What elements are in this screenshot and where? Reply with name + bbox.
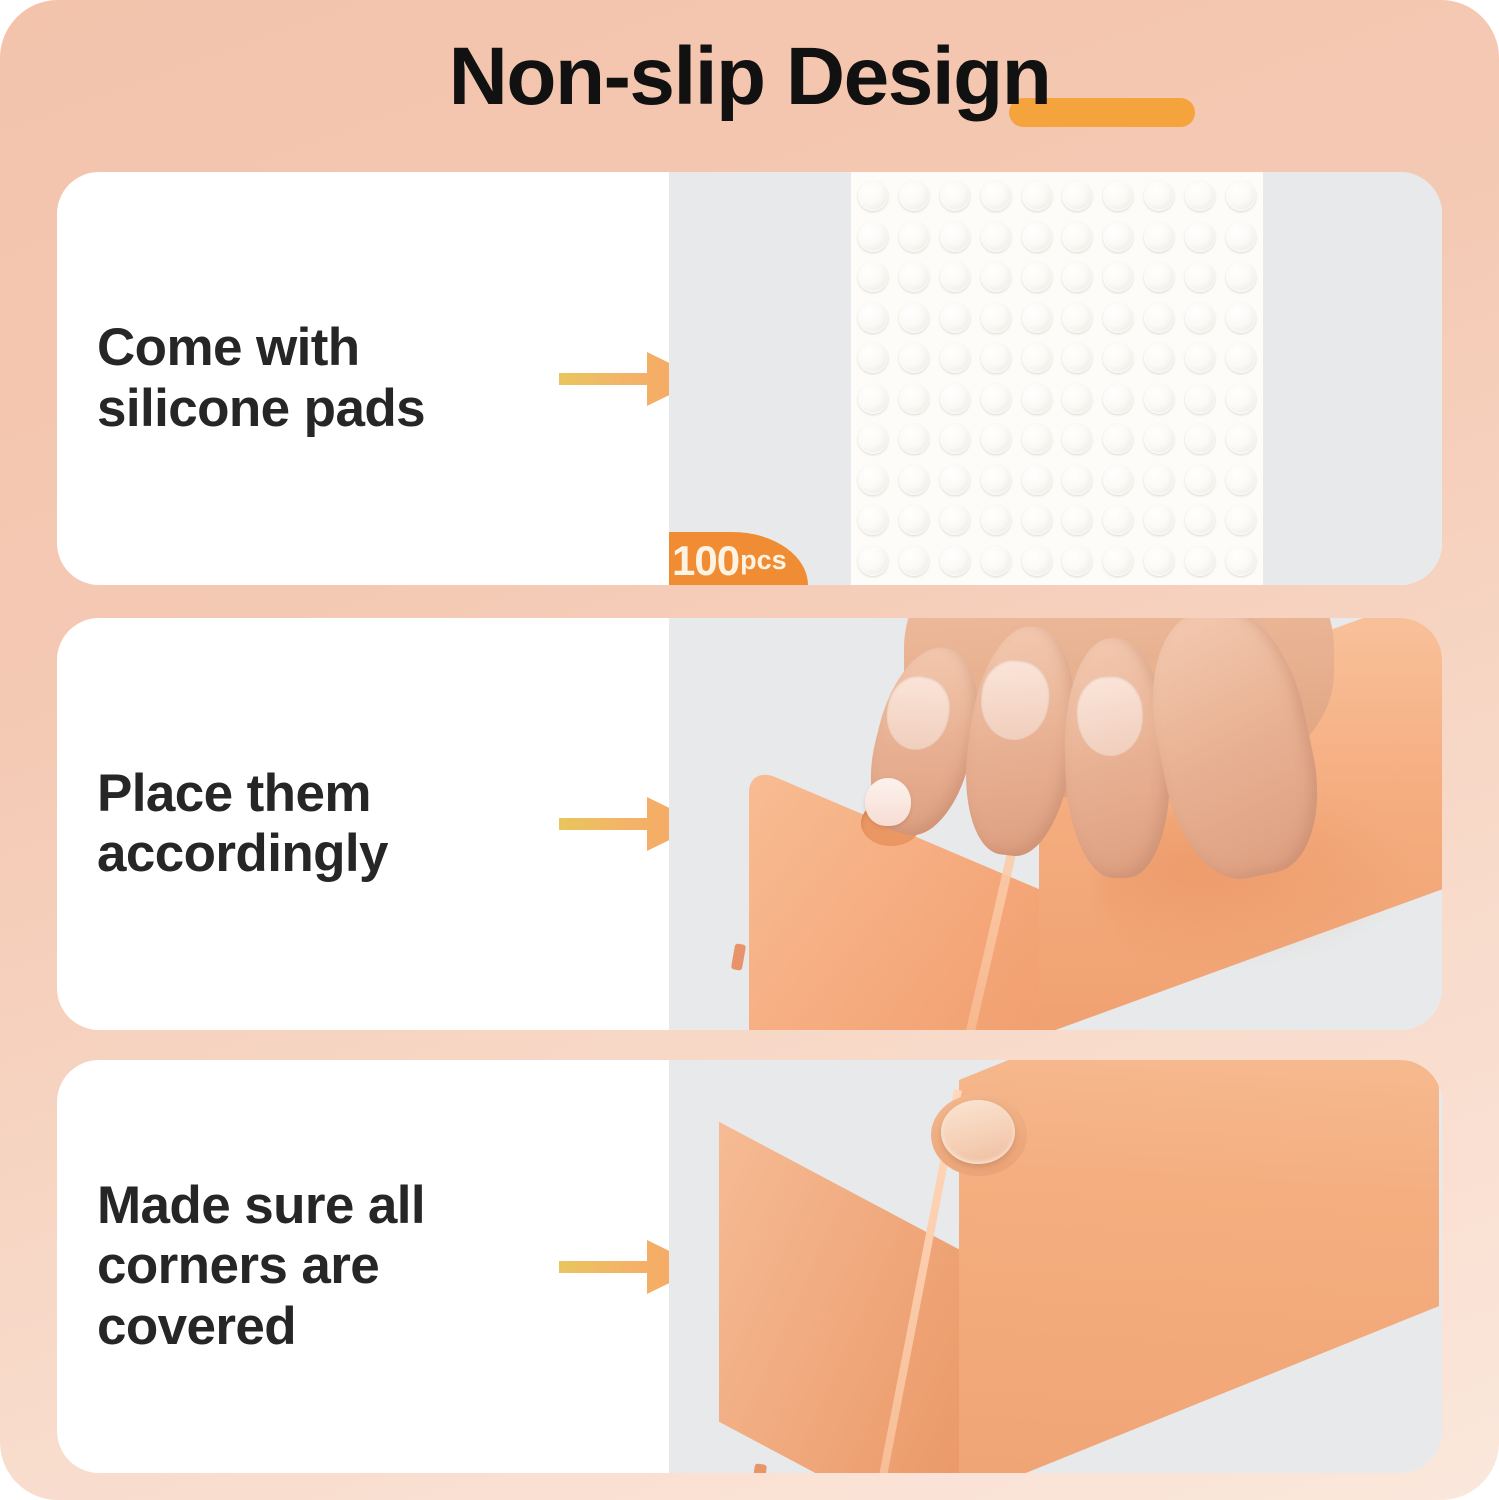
badge-unit: pcs	[740, 545, 787, 576]
silicone-pad-dot	[1185, 343, 1215, 373]
silicone-pad-dot	[1144, 222, 1174, 252]
silicone-pad-dot	[981, 303, 1011, 333]
silicone-pad-dot	[940, 303, 970, 333]
infographic-page: Non-slip Design Come with silicone pads	[0, 0, 1499, 1500]
card-media-silicone-pad-sheet: 100pcs	[669, 172, 1442, 585]
card-heading: Place them accordingly	[97, 764, 388, 885]
silicone-pad-dot	[1022, 546, 1052, 576]
silicone-pad-dot	[1062, 465, 1092, 495]
silicone-pad-dot	[981, 262, 1011, 292]
silicone-pad-dot	[1103, 303, 1133, 333]
silicone-pad-dot	[1185, 465, 1215, 495]
silicone-pad-dot	[1022, 465, 1052, 495]
silicone-pad-dot	[1062, 303, 1092, 333]
silicone-pad-dot	[1144, 262, 1174, 292]
silicone-pad-dot	[899, 465, 929, 495]
card-text-area: Place them accordingly	[57, 618, 669, 1030]
silicone-pad-dot	[899, 424, 929, 454]
hand-placing-pad-photo	[669, 618, 1442, 1030]
silicone-pad-dot	[1226, 181, 1256, 211]
silicone-pad-dot	[858, 546, 888, 576]
silicone-pad-dot	[940, 343, 970, 373]
silicone-pad-dot	[899, 303, 929, 333]
badge-count: 100	[672, 537, 739, 585]
silicone-pad-dot	[1185, 262, 1215, 292]
silicone-pad-dot	[1062, 262, 1092, 292]
silicone-pad-dot	[1062, 384, 1092, 414]
silicone-pad-dot	[1144, 343, 1174, 373]
card-heading: Made sure all corners are covered	[97, 1176, 425, 1357]
silicone-pad-dot	[858, 505, 888, 535]
silicone-pad-dot	[1226, 384, 1256, 414]
silicone-pad-dot	[1185, 384, 1215, 414]
card-text-area: Come with silicone pads	[57, 172, 669, 585]
silicone-pad-dot	[981, 465, 1011, 495]
card-text-area: Made sure all corners are covered	[57, 1060, 669, 1473]
silicone-pad-dot	[1144, 505, 1174, 535]
silicone-pad-dot	[940, 222, 970, 252]
silicone-pad-dot	[899, 181, 929, 211]
silicone-pad-dot	[981, 222, 1011, 252]
silicone-pad-dot	[981, 384, 1011, 414]
silicone-pad-dot	[1062, 222, 1092, 252]
feature-card-place-pads: Place them accordingly	[57, 618, 1442, 1030]
silicone-pad-dot	[1226, 505, 1256, 535]
silicone-pad-dot	[1185, 505, 1215, 535]
silicone-pad-dot	[1022, 424, 1052, 454]
silicone-pad-dot	[981, 546, 1011, 576]
silicone-pad-dot	[1062, 546, 1092, 576]
silicone-pad-dot	[1144, 424, 1174, 454]
silicone-pad-dot	[858, 262, 888, 292]
silicone-pad-dot	[1103, 546, 1133, 576]
product-notch	[731, 943, 746, 971]
silicone-pad-grid	[851, 172, 1263, 585]
silicone-pad-dot	[1226, 343, 1256, 373]
silicone-pad-dot	[1103, 384, 1133, 414]
silicone-pad-dot	[1103, 222, 1133, 252]
silicone-pad-dot	[1022, 505, 1052, 535]
silicone-pad-dot	[1062, 505, 1092, 535]
silicone-pad-dot	[1226, 262, 1256, 292]
silicone-pad-dot	[1144, 546, 1174, 576]
silicone-pad-dot	[1103, 465, 1133, 495]
silicone-pad-dot	[1022, 343, 1052, 373]
silicone-pad-dot	[981, 181, 1011, 211]
silicone-pad-dot	[1144, 181, 1174, 211]
silicone-pad-dot	[858, 222, 888, 252]
quantity-badge: 100pcs	[669, 532, 808, 585]
covered-corner-closeup-photo	[669, 1060, 1442, 1473]
silicone-pad-dot	[1185, 424, 1215, 454]
silicone-pad-dot	[1226, 546, 1256, 576]
silicone-pad-dot	[1103, 424, 1133, 454]
silicone-pad-dot	[940, 546, 970, 576]
silicone-pad-dot	[858, 303, 888, 333]
silicone-pad-dot	[1022, 303, 1052, 333]
silicone-pad-dot	[1185, 181, 1215, 211]
silicone-pad-dot	[1185, 546, 1215, 576]
silicone-pad-dot	[858, 424, 888, 454]
silicone-pad-dot	[1226, 303, 1256, 333]
silicone-pad-dot	[1022, 181, 1052, 211]
silicone-pad-dot	[940, 262, 970, 292]
silicone-pad-dot	[981, 343, 1011, 373]
page-title: Non-slip Design	[449, 31, 1051, 122]
product-notch	[751, 1463, 767, 1473]
silicone-pad-dot	[1103, 505, 1133, 535]
silicone-pad-dot	[858, 384, 888, 414]
silicone-pad-dot	[1185, 303, 1215, 333]
silicone-pad-dot	[1103, 262, 1133, 292]
silicone-pad-dot	[899, 343, 929, 373]
installed-silicone-pad	[941, 1100, 1015, 1164]
silicone-pad-dot	[1022, 384, 1052, 414]
silicone-pad-dot	[940, 181, 970, 211]
product-right-face	[959, 1060, 1439, 1473]
silicone-pad-dot	[858, 465, 888, 495]
silicone-pad-dot	[899, 505, 929, 535]
silicone-pad-dot	[1022, 262, 1052, 292]
feature-card-silicone-pads: Come with silicone pads 100pcs	[57, 172, 1442, 585]
silicone-pad-dot	[940, 384, 970, 414]
page-title-area: Non-slip Design	[0, 22, 1499, 132]
silicone-pad-dot	[858, 343, 888, 373]
silicone-pad-dot	[981, 505, 1011, 535]
silicone-pad-dot	[940, 465, 970, 495]
silicone-pad-dot	[981, 424, 1011, 454]
silicone-pad	[865, 778, 911, 826]
silicone-pad-dot	[899, 262, 929, 292]
card-heading: Come with silicone pads	[97, 318, 425, 439]
card-media-covered-corner	[669, 1060, 1442, 1473]
silicone-pad-dot	[1144, 384, 1174, 414]
silicone-pad-dot	[899, 222, 929, 252]
silicone-pad-dot	[899, 546, 929, 576]
silicone-pad-dot	[1062, 343, 1092, 373]
silicone-pad-dot	[899, 384, 929, 414]
silicone-pad-dot	[940, 424, 970, 454]
silicone-pad-dot	[1226, 222, 1256, 252]
silicone-pad-dot	[1226, 424, 1256, 454]
silicone-pad-dot	[1062, 181, 1092, 211]
silicone-pad-dot	[1022, 222, 1052, 252]
card-media-hand-placing-pad	[669, 618, 1442, 1030]
silicone-pad-dot	[1144, 303, 1174, 333]
silicone-pad-dot	[1185, 222, 1215, 252]
silicone-pad-sheet	[851, 172, 1263, 585]
silicone-pad-dot	[1144, 465, 1174, 495]
silicone-pad-dot	[1103, 343, 1133, 373]
silicone-pad-dot	[940, 505, 970, 535]
silicone-pad-dot	[858, 181, 888, 211]
silicone-pad-dot	[1226, 465, 1256, 495]
feature-card-corners-covered: Made sure all corners are covered	[57, 1060, 1442, 1473]
silicone-pad-dot	[1103, 181, 1133, 211]
silicone-pad-dot	[1062, 424, 1092, 454]
